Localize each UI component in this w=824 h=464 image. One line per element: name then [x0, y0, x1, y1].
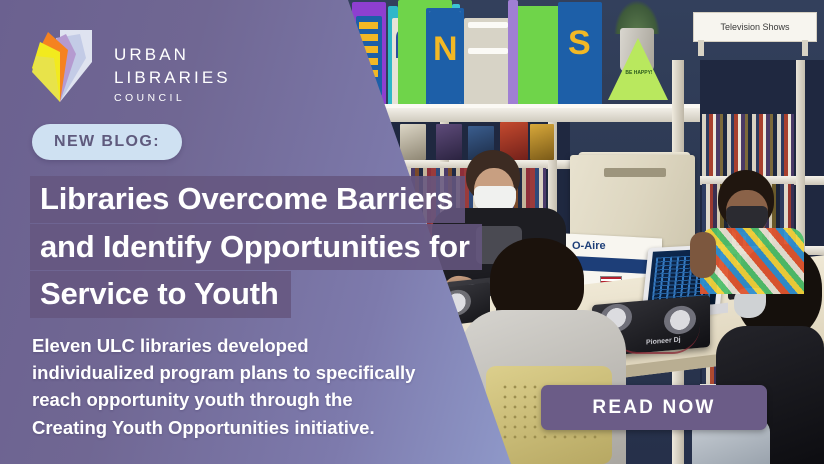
- brand-line-libraries: LIBRARIES: [114, 67, 231, 90]
- new-blog-badge: NEW BLOG:: [32, 124, 182, 160]
- brand-line-council: COUNCIL: [114, 92, 231, 104]
- brand-line-urban: URBAN: [114, 44, 231, 67]
- promo-banner: N S BE HAPPY! Television Shows: [0, 0, 824, 464]
- body-copy-line: individualized program plans to specific…: [32, 359, 472, 386]
- title-line: Service to Youth: [30, 271, 291, 318]
- brand-logo[interactable]: URBAN LIBRARIES COUNCIL: [30, 28, 231, 110]
- urban-libraries-council-fan-icon: [30, 28, 102, 110]
- title-line: Libraries Overcome Barriers: [30, 176, 465, 223]
- body-copy-line: Eleven ULC libraries developed: [32, 332, 472, 359]
- title-line: and Identify Opportunities for: [30, 224, 482, 271]
- body-copy: Eleven ULC libraries developed individua…: [32, 332, 472, 441]
- body-copy-line: reach opportunity youth through the: [32, 386, 472, 413]
- read-now-button[interactable]: READ NOW: [541, 385, 767, 430]
- body-copy-line: Creating Youth Opportunities initiative.: [32, 414, 472, 441]
- page-title: Libraries Overcome Barriers and Identify…: [30, 176, 550, 319]
- banner-content: URBAN LIBRARIES COUNCIL NEW BLOG: Librar…: [0, 0, 824, 464]
- brand-logo-text: URBAN LIBRARIES COUNCIL: [114, 28, 231, 104]
